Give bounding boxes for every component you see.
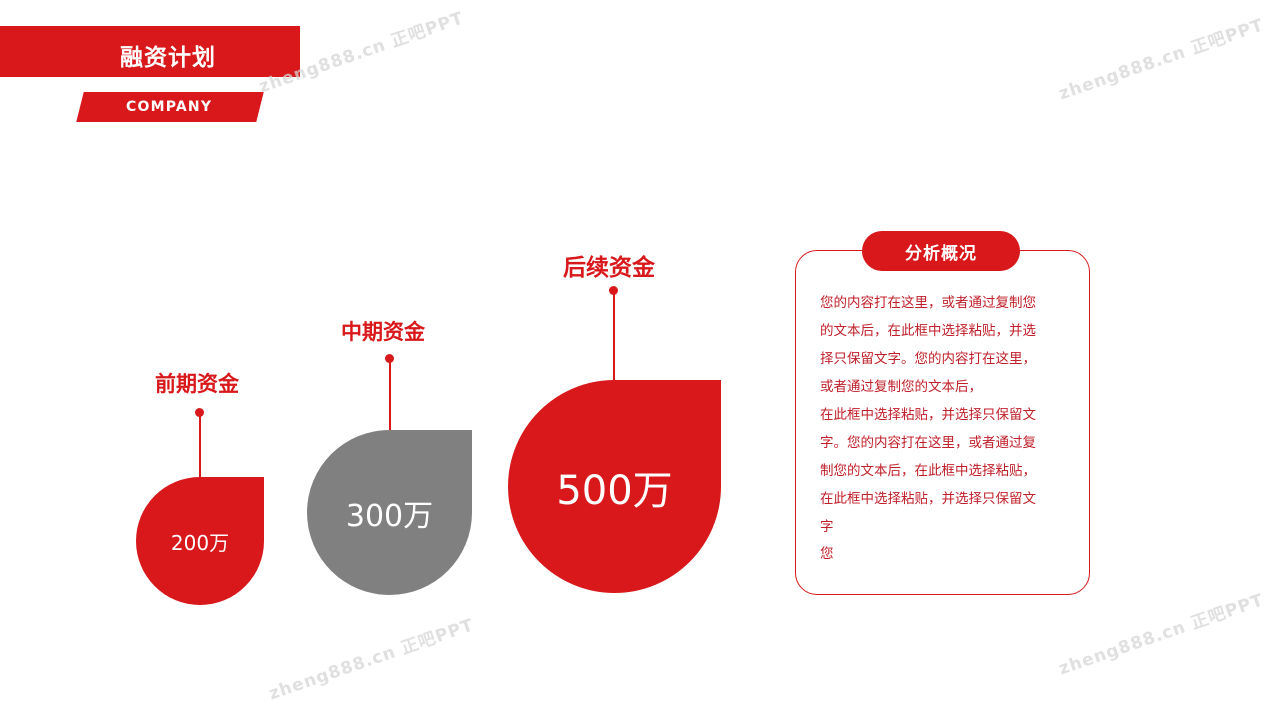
funding-amount-3: 500万 [556,458,672,516]
watermark: zheng888.cn 正吧PPT [1055,586,1267,680]
analysis-line: 字 [820,514,1068,542]
analysis-line: 您的内容打在这里，或者通过复制您 [820,290,1068,318]
analysis-line: 制您的文本后，在此框中选择粘贴， [820,458,1068,486]
funding-amount-1: 200万 [171,527,229,556]
page-title: 融资计划 [120,38,216,72]
funding-label-1: 前期资金 [155,370,247,398]
analysis-line: 的文本后，在此框中选择粘贴，并选 [820,318,1068,346]
connector-stem-1 [199,415,201,483]
funding-drop-1: 200万 [136,477,264,605]
analysis-line: 择只保留文字。您的内容打在这里， [820,346,1068,374]
funding-amount-2: 300万 [346,491,433,535]
watermark: zheng888.cn 正吧PPT [265,611,477,705]
connector-stem-3 [613,292,615,387]
connector-stem-2 [389,360,391,435]
funding-drop-3: 500万 [508,380,721,593]
analysis-line: 在此框中选择粘贴，并选择只保留文 [820,402,1068,430]
analysis-panel-tag: 分析概况 [862,231,1020,271]
funding-drop-2: 300万 [307,430,472,595]
watermark: zheng888.cn 正吧PPT [1055,11,1267,105]
header-title-bar: 融资计划 [0,26,300,77]
analysis-line: 在此框中选择粘贴，并选择只保留文 [820,486,1068,514]
analysis-line: 或者通过复制您的文本后， [820,374,1068,402]
analysis-line: 字。您的内容打在这里，或者通过复 [820,430,1068,458]
funding-label-3: 后续资金 [563,253,655,284]
analysis-panel-body: 您的内容打在这里，或者通过复制您 的文本后，在此框中选择粘贴，并选 择只保留文字… [820,290,1068,569]
header-subtitle: COMPANY [126,99,212,115]
analysis-line: 您 [820,541,1068,569]
funding-label-2: 中期资金 [341,318,425,346]
